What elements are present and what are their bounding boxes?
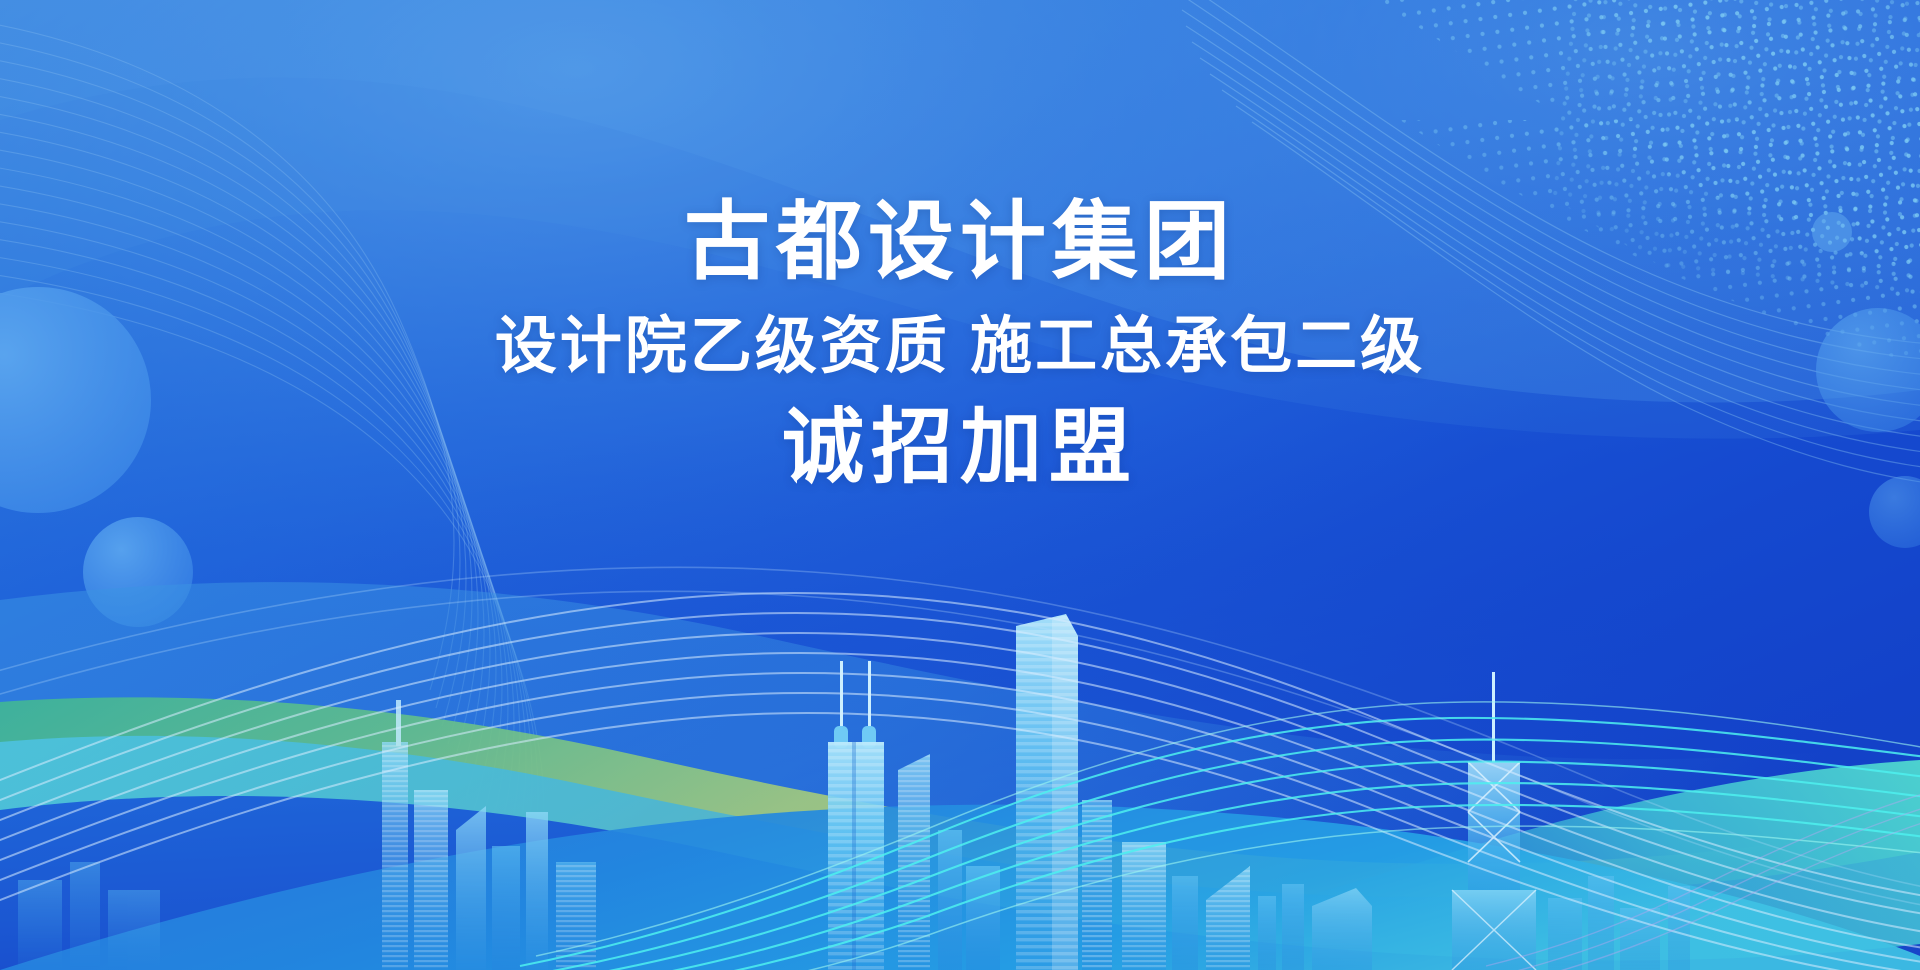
wave-line-ribbons-icon	[0, 0, 1920, 970]
banner-root: 古都设计集团 设计院乙级资质 施工总承包二级 诚招加盟	[0, 0, 1920, 970]
